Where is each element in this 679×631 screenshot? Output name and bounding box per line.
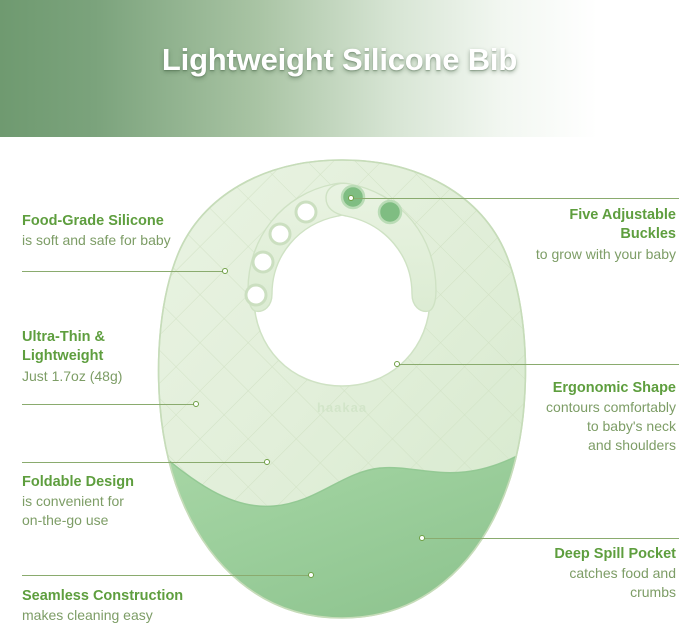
connector-dot-five-adjustable-buckles bbox=[348, 195, 354, 201]
connector-dot-deep-spill-pocket bbox=[419, 535, 425, 541]
connector-line-five-adjustable-buckles bbox=[352, 198, 679, 199]
connector-dot-ergonomic-shape bbox=[394, 361, 400, 367]
callout-title-line-2: Lightweight bbox=[22, 347, 122, 366]
connector-dot-ultra-thin-lightweight bbox=[193, 401, 199, 407]
brand-logo: haakaa bbox=[317, 400, 367, 415]
callout-title-line-1: Five Adjustable bbox=[536, 206, 676, 225]
callout-line: Just 1.7oz (48g) bbox=[22, 367, 122, 386]
connector-dot-foldable-design bbox=[264, 459, 270, 465]
callout-line-1: contours comfortably bbox=[546, 398, 676, 417]
callout-five-adjustable-buckles: Five Adjustable Buckles to grow with you… bbox=[536, 206, 676, 263]
callout-title: Foldable Design bbox=[22, 473, 134, 492]
infographic-canvas: Lightweight Silicone Bib bbox=[0, 0, 679, 631]
callout-title: Ergonomic Shape bbox=[546, 379, 676, 398]
callout-foldable-design: Foldable Design is convenient for on-the… bbox=[22, 473, 134, 530]
callout-ultra-thin-lightweight: Ultra-Thin & Lightweight Just 1.7oz (48g… bbox=[22, 328, 122, 385]
connector-line-ergonomic-shape bbox=[399, 364, 679, 365]
callout-line-1: catches food and bbox=[554, 564, 676, 583]
connector-line-seamless-construction bbox=[22, 575, 310, 576]
callout-line-2: to baby's neck bbox=[546, 417, 676, 436]
connector-dot-food-grade-silicone bbox=[222, 268, 228, 274]
product-image-silicone-bib: haakaa bbox=[152, 150, 532, 618]
callout-title: Seamless Construction bbox=[22, 587, 183, 606]
callout-line: is soft and safe for baby bbox=[22, 231, 171, 250]
callout-deep-spill-pocket: Deep Spill Pocket catches food and crumb… bbox=[554, 545, 676, 602]
header-banner: Lightweight Silicone Bib bbox=[0, 0, 679, 137]
connector-line-deep-spill-pocket bbox=[424, 538, 679, 539]
callout-line-1: is convenient for bbox=[22, 492, 134, 511]
callout-line-3: and shoulders bbox=[546, 436, 676, 455]
callout-line: to grow with your baby bbox=[536, 245, 676, 264]
connector-line-food-grade-silicone bbox=[22, 271, 224, 272]
connector-line-ultra-thin-lightweight bbox=[22, 404, 195, 405]
callout-line-2: on-the-go use bbox=[22, 511, 134, 530]
callout-title-line-1: Ultra-Thin & bbox=[22, 328, 122, 347]
callout-ergonomic-shape: Ergonomic Shape contours comfortably to … bbox=[546, 379, 676, 454]
callout-line-2: crumbs bbox=[554, 583, 676, 602]
callout-title: Deep Spill Pocket bbox=[554, 545, 676, 564]
callout-line: makes cleaning easy bbox=[22, 606, 183, 625]
connector-line-foldable-design bbox=[22, 462, 266, 463]
callout-title: Food-Grade Silicone bbox=[22, 212, 171, 231]
page-title: Lightweight Silicone Bib bbox=[0, 42, 679, 78]
callout-title-line-2: Buckles bbox=[536, 225, 676, 244]
connector-dot-seamless-construction bbox=[308, 572, 314, 578]
callout-food-grade-silicone: Food-Grade Silicone is soft and safe for… bbox=[22, 212, 171, 250]
callout-seamless-construction: Seamless Construction makes cleaning eas… bbox=[22, 587, 183, 625]
